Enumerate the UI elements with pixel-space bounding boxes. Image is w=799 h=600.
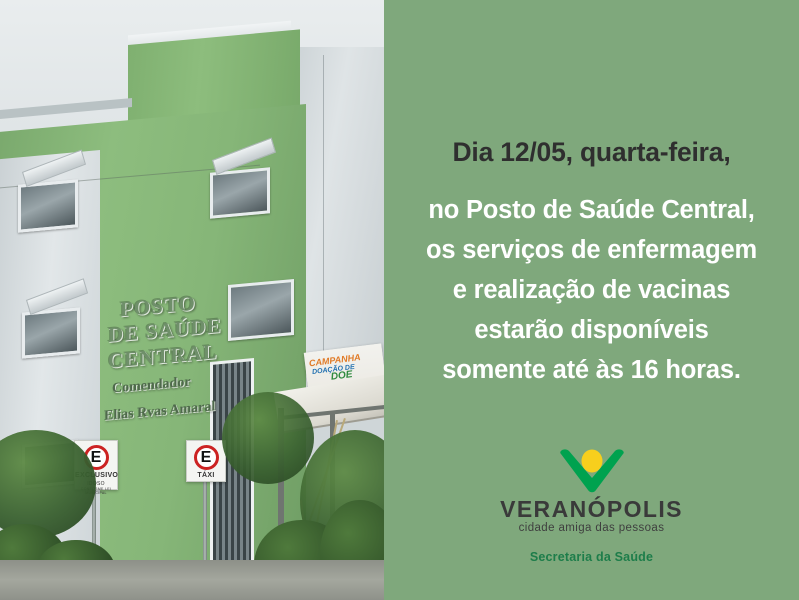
tree	[222, 392, 314, 484]
logo-wordmark: VERANÓPOLIS	[384, 496, 799, 522]
announcement-line-3: os serviços de enfermagem	[396, 230, 787, 270]
announcement-line-4: e realização de vacinas	[396, 270, 787, 310]
announcement-text: Dia 12/05, quarta-feira, no Posto de Saú…	[384, 132, 799, 390]
veranopolis-v-sun-icon	[555, 448, 629, 494]
green-message-panel: Dia 12/05, quarta-feira, no Posto de Saú…	[384, 0, 799, 600]
veranopolis-logo: VERANÓPOLIS cidade amiga das pessoas Sec…	[384, 448, 799, 564]
building-photo: POSTO DE SAÚDE CENTRAL Comendador Elias …	[0, 0, 384, 600]
parking-sign-caption: TÁXI	[187, 472, 225, 481]
window	[22, 307, 80, 358]
department-label: Secretaria da Saúde	[384, 550, 799, 564]
announcement-line-6: somente até às 16 horas.	[396, 350, 787, 390]
logo-tagline: cidade amiga das pessoas	[384, 521, 799, 536]
parking-sign-taxi: E TÁXI	[186, 440, 226, 482]
window	[228, 279, 294, 341]
sidewalk	[0, 560, 384, 600]
window	[210, 167, 270, 218]
announcement-line-1: Dia 12/05, quarta-feira,	[396, 132, 787, 172]
window	[18, 179, 78, 232]
parking-E-icon: E	[194, 445, 219, 470]
announcement-line-2: no Posto de Saúde Central,	[396, 190, 787, 230]
announcement-line-5: estarão disponíveis	[396, 310, 787, 350]
poster: POSTO DE SAÚDE CENTRAL Comendador Elias …	[0, 0, 799, 600]
